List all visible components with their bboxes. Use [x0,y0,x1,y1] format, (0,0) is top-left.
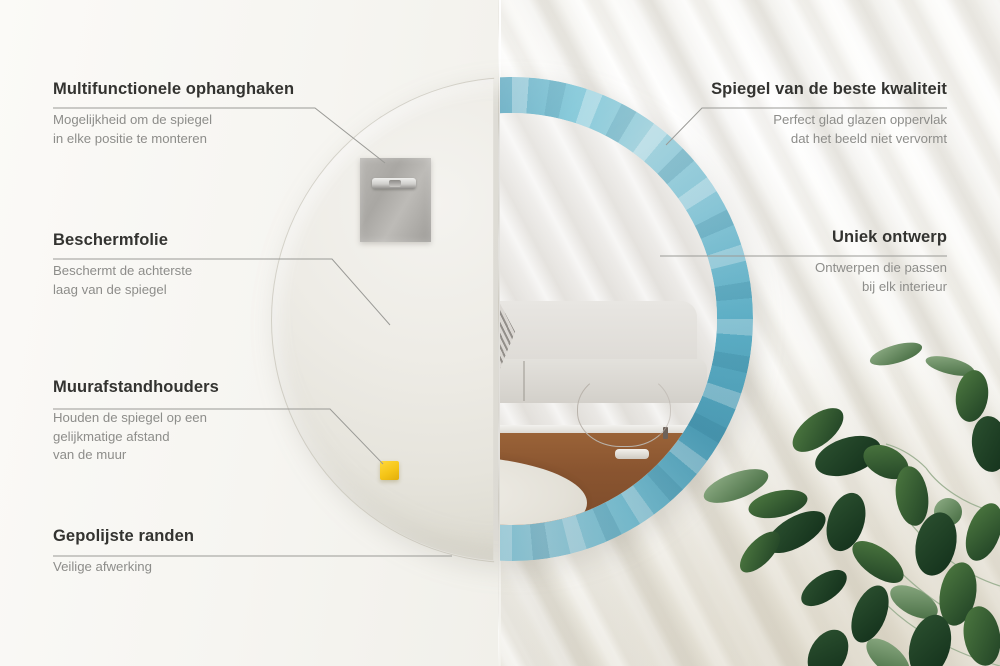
callout-polished-edges: Gepolijste randen Veilige afwerking [53,527,194,577]
callout-wall-spacers: Muurafstandhouders Houden de spiegel op … [53,378,219,465]
callout-best-quality-body: Perfect glad glazen oppervlak dat het be… [527,111,947,148]
wall-spacer [380,461,399,480]
callout-wall-spacers-body: Houden de spiegel op een gelijkmatige af… [53,409,219,465]
callout-best-quality: Spiegel van de beste kwaliteit Perfect g… [527,80,947,148]
callout-unique-design-body: Ontwerpen die passen bij elk interieur [527,259,947,296]
hook-slot [372,178,416,189]
reflection-floor-lamp [577,371,671,447]
callout-polished-edges-body: Veilige afwerking [53,558,194,577]
callout-protective-film-title: Beschermfolie [53,231,192,250]
callout-best-quality-title: Spiegel van de beste kwaliteit [527,80,947,99]
callout-hooks-body: Mogelijkheid om de spiegel in elke posit… [53,111,294,148]
callout-polished-edges-title: Gepolijste randen [53,527,194,546]
callout-protective-film: Beschermfolie Beschermt de achterste laa… [53,231,192,299]
reflection-lamp-base [615,449,649,459]
hanging-hook-plate [360,158,431,242]
callout-unique-design-title: Uniek ontwerp [527,228,947,247]
callout-hooks-title: Multifunctionele ophanghaken [53,80,294,99]
callout-wall-spacers-title: Muurafstandhouders [53,378,219,397]
callout-hooks: Multifunctionele ophanghaken Mogelijkhei… [53,80,294,148]
callout-unique-design: Uniek ontwerp Ontwerpen die passen bij e… [527,228,947,296]
sofa-cushion-seam [523,361,525,401]
foliage-overlay [700,336,1000,666]
product-mirror [271,77,753,561]
callout-protective-film-body: Beschermt de achterste laag van de spieg… [53,262,192,299]
infographic-canvas: Multifunctionele ophanghaken Mogelijkhei… [0,0,1000,666]
